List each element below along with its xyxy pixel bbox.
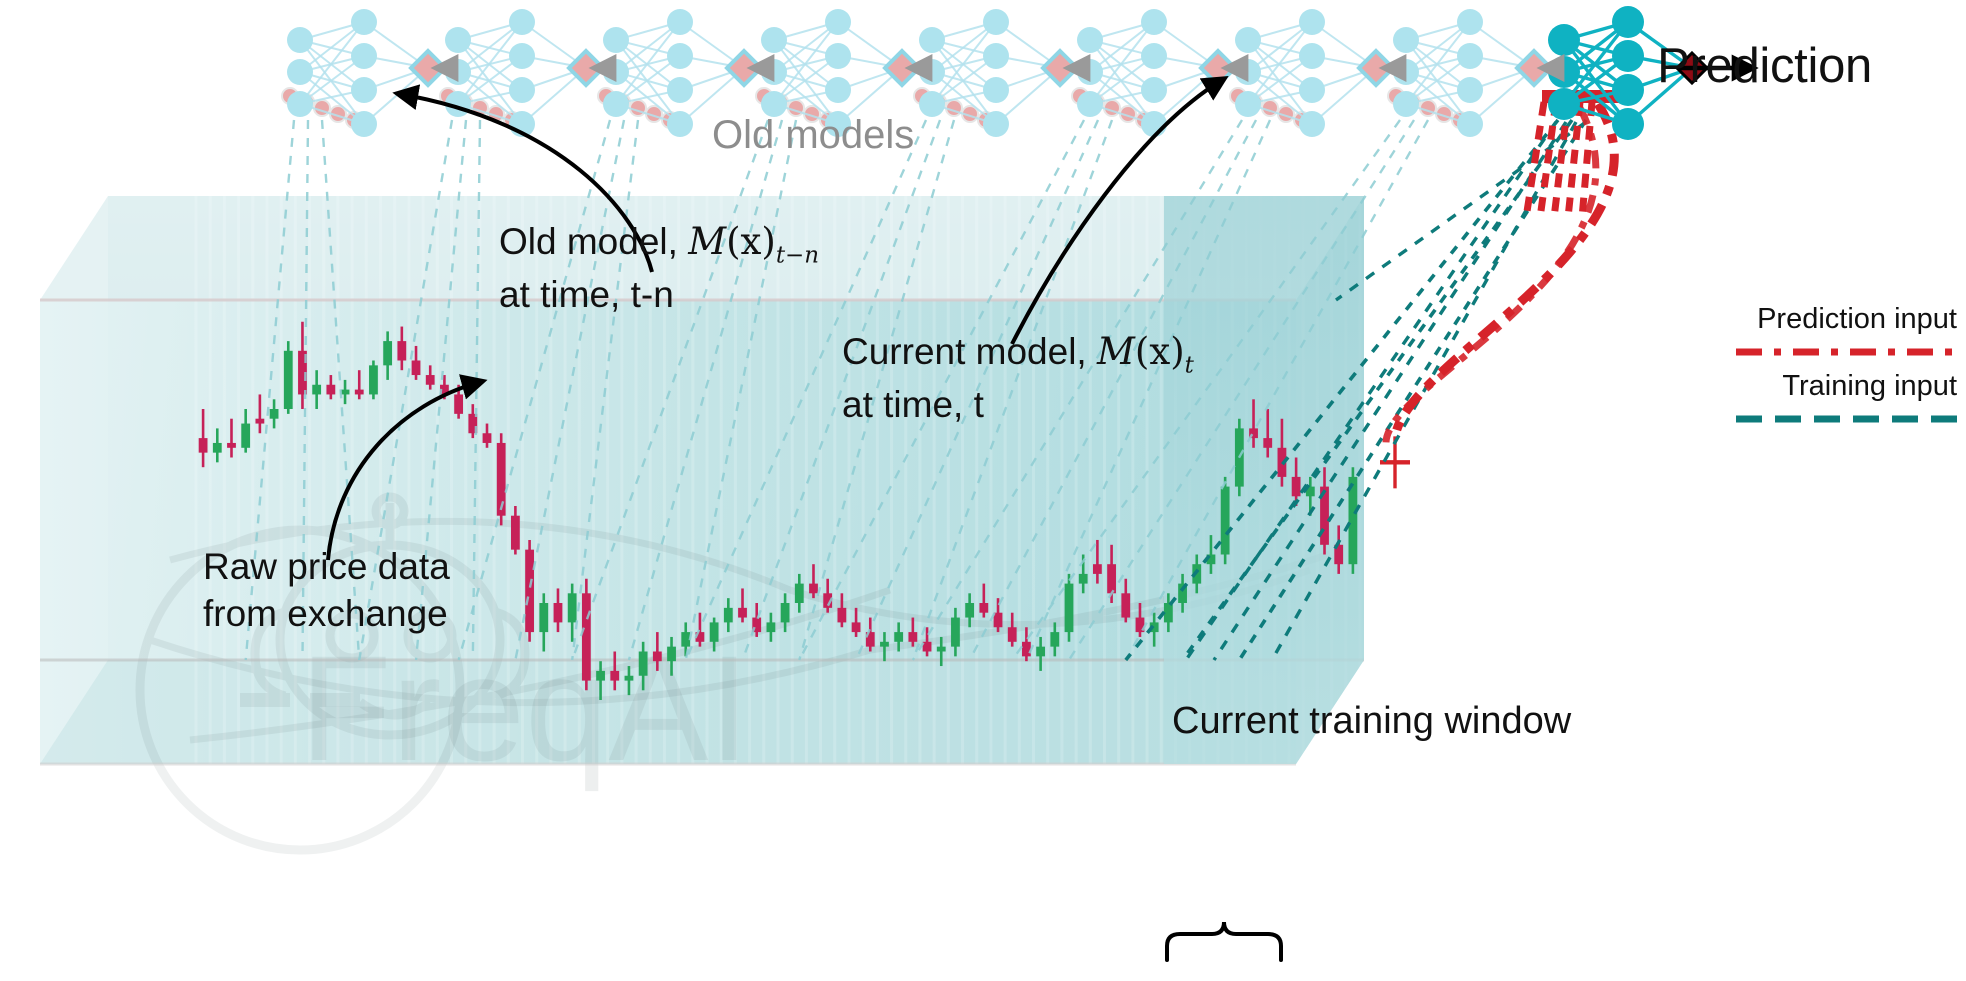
current-model-annotation: Current model, M(x)t at time, t bbox=[842, 328, 1194, 428]
raw-price-line-1: Raw price data bbox=[203, 543, 450, 590]
prediction-label: Prediction bbox=[1657, 38, 1872, 94]
old-model-annotation: Old model, M(x)t−n at time, t-n bbox=[499, 218, 819, 318]
current-training-window-label: Current training window bbox=[1172, 700, 1571, 743]
legend-layer bbox=[0, 0, 1966, 981]
legend-label-prediction-input: Prediction input bbox=[1757, 303, 1957, 336]
legend-label-training-input: Training input bbox=[1782, 370, 1957, 403]
figure-canvas: FreqAI bbox=[0, 0, 1966, 981]
current-model-text-prefix: Current model, bbox=[842, 331, 1097, 372]
old-model-math-sub: t−n bbox=[776, 242, 819, 268]
old-models-label: Old models bbox=[712, 113, 914, 158]
raw-price-annotation: Raw price data from exchange bbox=[203, 543, 450, 638]
old-model-math-x: (x) bbox=[726, 220, 776, 263]
current-model-math-x: (x) bbox=[1135, 330, 1185, 373]
current-model-time-text: at time, t bbox=[842, 381, 1194, 428]
current-model-math-sub: t bbox=[1185, 352, 1194, 378]
old-model-time-text: at time, t-n bbox=[499, 271, 819, 318]
current-model-math-m: M bbox=[1097, 330, 1135, 373]
old-model-text-prefix: Old model, bbox=[499, 221, 688, 262]
raw-price-line-2: from exchange bbox=[203, 590, 450, 637]
old-model-math-m: M bbox=[688, 220, 726, 263]
